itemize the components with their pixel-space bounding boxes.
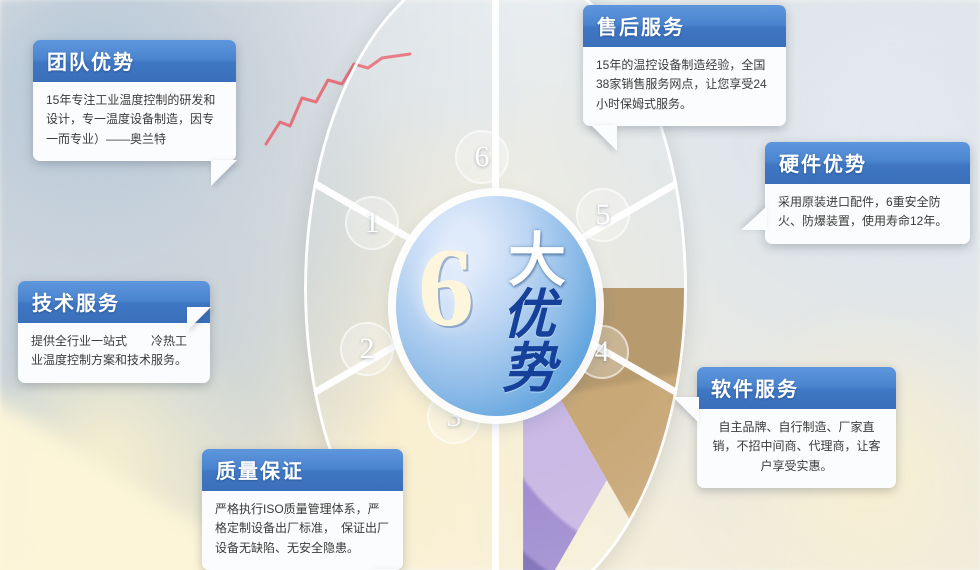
- callout-card-team[interactable]: 团队优势 15年专注工业温度控制的研发和设计，专一温度设备制造，因专一而专业）—…: [33, 40, 236, 161]
- card-body: 15年的温控设备制造经验，全国38家销售服务网点，让您享受24小时保姆式服务。: [583, 47, 786, 126]
- callout-card-software[interactable]: 软件服务 自主品牌、自行制造、厂家直销，不招中间商、代理商，让客户享受实惠。: [697, 367, 896, 488]
- card-body: 自主品牌、自行制造、厂家直销，不招中间商、代理商，让客户享受实惠。: [697, 409, 896, 488]
- card-title: 硬件优势: [765, 142, 970, 184]
- card-title: 质量保证: [202, 449, 403, 491]
- infographic-canvas: 1 2 3 4 5 6 6 大 优势 团队优势 15年专注工业温度控制的研发和设…: [0, 0, 980, 570]
- callout-tail: [673, 397, 699, 423]
- card-title: 技术服务: [18, 281, 210, 323]
- center-big-char: 大: [508, 232, 566, 290]
- callout-card-after-sales[interactable]: 售后服务 15年的温控设备制造经验，全国38家销售服务网点，让您享受24小时保姆…: [583, 5, 786, 126]
- callout-tail: [741, 206, 767, 230]
- center-number: 6: [418, 232, 474, 344]
- card-body: 提供全行业一站式 冷热工业温度控制方案和技术服务。: [18, 323, 210, 383]
- segment-number-6[interactable]: 6: [455, 130, 509, 184]
- callout-card-tech[interactable]: 技术服务 提供全行业一站式 冷热工业温度控制方案和技术服务。: [18, 281, 210, 383]
- callout-tail: [591, 125, 617, 151]
- card-body: 15年专注工业温度控制的研发和设计，专一温度设备制造，因专一而专业）——奥兰特: [33, 82, 236, 161]
- card-body: 严格执行ISO质量管理体系，严格定制设备出厂标准， 保证出厂设备无缺陷、无安全隐…: [202, 491, 403, 570]
- callout-card-quality[interactable]: 质量保证 严格执行ISO质量管理体系，严格定制设备出厂标准， 保证出厂设备无缺陷…: [202, 449, 403, 570]
- segment-number-2[interactable]: 2: [340, 322, 394, 376]
- card-title: 软件服务: [697, 367, 896, 409]
- card-title: 团队优势: [33, 40, 236, 82]
- callout-tail: [211, 160, 237, 186]
- callout-card-hardware[interactable]: 硬件优势 采用原装进口配件，6重安全防火、防爆装置，使用寿命12年。: [765, 142, 970, 244]
- segment-number-1[interactable]: 1: [345, 196, 399, 250]
- callout-tail: [187, 307, 211, 331]
- card-title: 售后服务: [583, 5, 786, 47]
- center-word: 优势: [502, 288, 596, 396]
- card-body: 采用原装进口配件，6重安全防火、防爆装置，使用寿命12年。: [765, 184, 970, 244]
- center-badge[interactable]: 6 大 优势: [396, 196, 596, 416]
